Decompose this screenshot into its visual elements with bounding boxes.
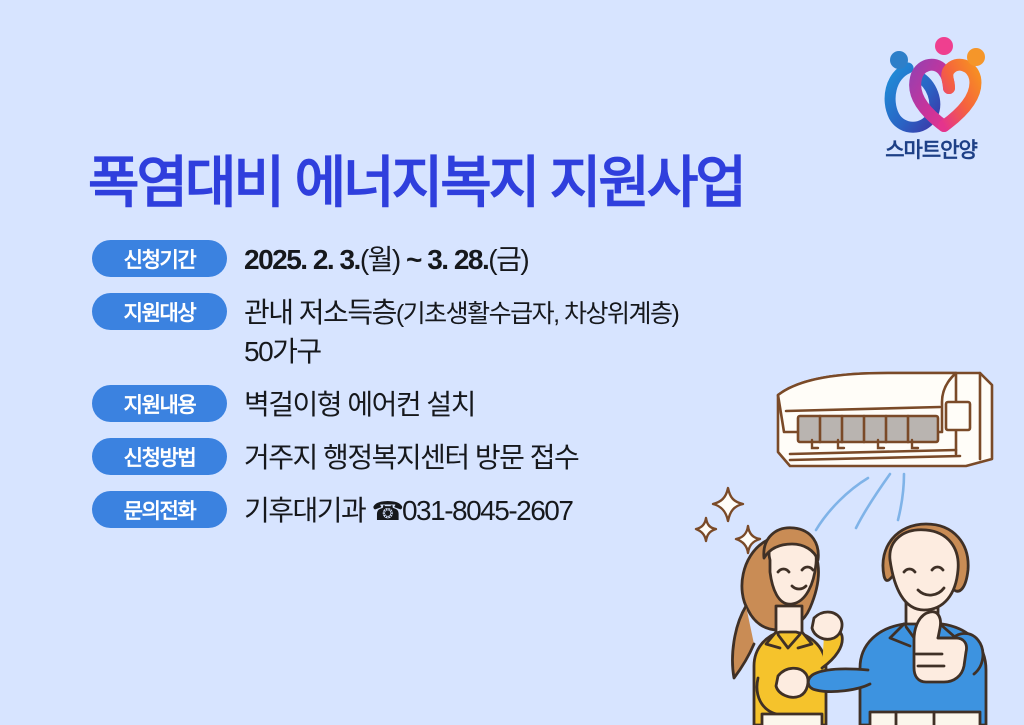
date-end: 3. 28. <box>427 244 488 275</box>
info-row-application-period: 신청기간 2025. 2. 3.(월) ~ 3. 28.(금) <box>92 240 812 279</box>
badge-eligibility: 지원대상 <box>92 293 227 330</box>
eligibility-main: 관내 저소득층 <box>244 297 396 328</box>
page-title: 폭염대비 에너지복지 지원사업 <box>88 152 744 214</box>
badge-how-to-apply: 신청방법 <box>92 438 227 475</box>
eligibility-detail: (기초생활수급자, 차상위계층) <box>396 300 679 328</box>
value-how-to-apply: 거주지 행정복지센터 방문 접수 <box>244 438 578 477</box>
contact-department: 기후대기과 <box>244 495 365 526</box>
badge-application-period: 신청기간 <box>92 240 227 277</box>
woman-figure <box>733 528 843 725</box>
value-eligibility: 관내 저소득층(기초생활수급자, 차상위계층)50가구 <box>244 293 678 371</box>
poster-canvas: 스마트안양 폭염대비 에너지복지 지원사업 신청기간 2025. 2. 3.(월… <box>0 0 1024 725</box>
info-row-eligibility: 지원대상 관내 저소득층(기초생활수급자, 차상위계층)50가구 <box>92 293 812 371</box>
weekday-end: (금) <box>488 244 528 275</box>
info-row-support-content: 지원내용 벽걸이형 에어컨 설치 <box>92 385 812 424</box>
value-contact: 기후대기과 ☎031-8045-2607 <box>244 491 572 530</box>
badge-contact: 문의전화 <box>92 491 227 528</box>
logo-text: 스마트안양 <box>866 138 996 164</box>
telephone-icon: ☎ <box>372 496 402 526</box>
badge-support-content: 지원내용 <box>92 385 227 422</box>
value-application-period: 2025. 2. 3.(월) ~ 3. 28.(금) <box>244 240 528 279</box>
date-start: 2025. 2. 3. <box>244 244 360 275</box>
info-row-how-to-apply: 신청방법 거주지 행정복지센터 방문 접수 <box>92 438 812 477</box>
contact-phone-number: 031-8045-2607 <box>402 495 572 526</box>
eligibility-count: 50가구 <box>244 333 678 371</box>
value-support-content: 벽걸이형 에어컨 설치 <box>244 385 475 424</box>
date-separator: ~ <box>406 244 421 275</box>
people-illustration <box>718 498 1024 725</box>
smart-anyang-logo: 스마트안양 <box>866 32 996 172</box>
weekday-start: (월) <box>360 244 400 275</box>
logo-mark-icon <box>872 32 990 136</box>
